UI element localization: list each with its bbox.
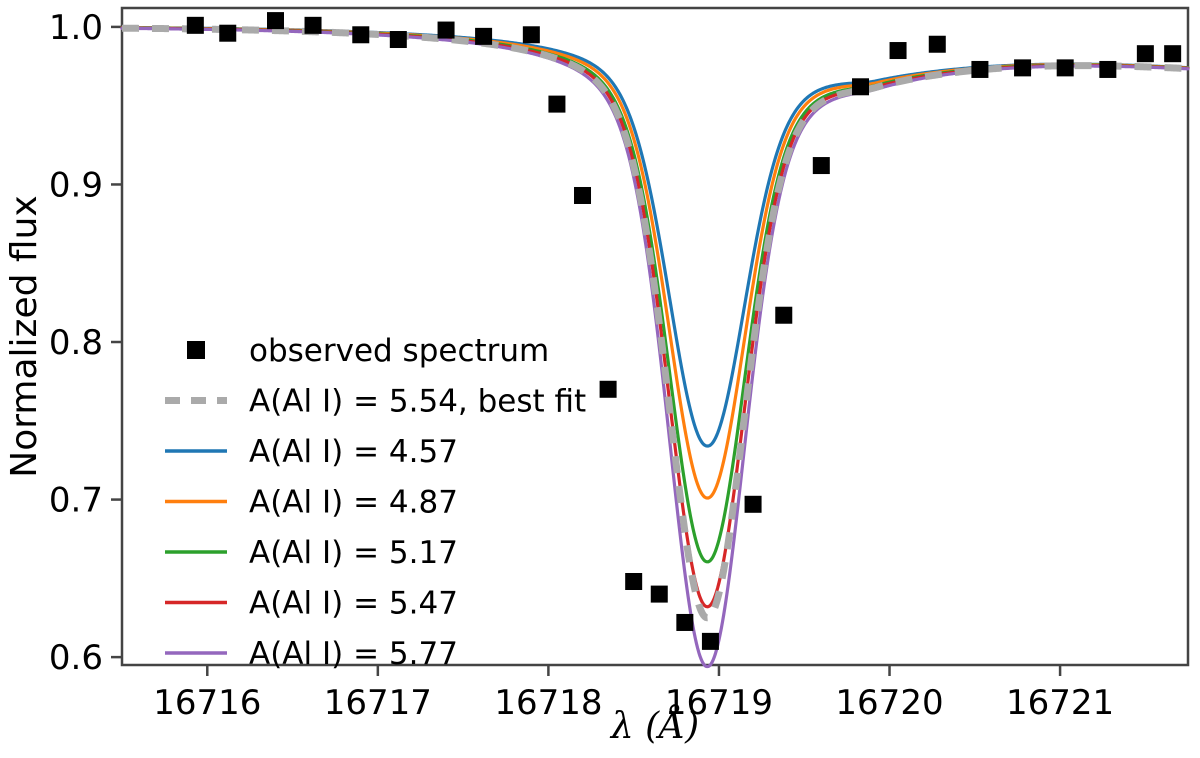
- legend-label-model_577: A(Al I) = 5.77: [249, 636, 458, 672]
- data-point: [702, 633, 719, 650]
- data-point: [971, 61, 988, 78]
- data-point: [1014, 59, 1031, 76]
- y-tick-label: 0.6: [49, 638, 103, 678]
- data-point: [1137, 45, 1154, 62]
- legend-label-observed: observed spectrum: [249, 333, 549, 369]
- y-tick-label: 0.9: [49, 165, 103, 205]
- data-point: [475, 28, 492, 45]
- data-point: [523, 26, 540, 43]
- data-point: [548, 96, 565, 113]
- data-point: [267, 12, 284, 29]
- x-tick-label: 16720: [835, 683, 943, 723]
- y-tick-label: 1.0: [49, 8, 103, 48]
- y-axis-label: Normalized flux: [4, 195, 45, 477]
- legend-label-best_fit: A(Al I) = 5.54, best fit: [249, 384, 586, 420]
- data-point: [600, 381, 617, 398]
- legend-label-model_457: A(Al I) = 4.57: [249, 434, 458, 470]
- legend-label-model_547: A(Al I) = 5.47: [249, 586, 458, 622]
- y-tick-label: 0.8: [49, 323, 103, 363]
- spectrum-plot-canvas: 1671616717167181671916720167210.60.70.80…: [0, 0, 1200, 758]
- data-point: [813, 157, 830, 174]
- x-tick-label: 16718: [494, 683, 602, 723]
- data-point: [1164, 45, 1181, 62]
- data-point: [219, 25, 236, 42]
- data-point: [676, 614, 693, 631]
- data-point: [305, 17, 322, 34]
- spectrum-figure: 1671616717167181671916720167210.60.70.80…: [0, 0, 1200, 758]
- x-tick-label: 16717: [324, 683, 432, 723]
- legend-label-model_517: A(Al I) = 5.17: [249, 535, 458, 571]
- legend-label-model_487: A(Al I) = 4.87: [249, 485, 458, 521]
- data-point: [1099, 61, 1116, 78]
- data-point: [1057, 59, 1074, 76]
- data-point: [890, 42, 907, 59]
- data-point: [352, 26, 369, 43]
- data-point: [390, 31, 407, 48]
- legend-marker-observed: [187, 341, 205, 359]
- data-point: [574, 187, 591, 204]
- data-point: [775, 307, 792, 324]
- data-point: [745, 496, 762, 513]
- data-point: [438, 22, 455, 39]
- data-point: [187, 17, 204, 34]
- x-axis-label: λ (Å): [609, 705, 699, 747]
- y-tick-label: 0.7: [49, 481, 103, 521]
- data-point: [929, 36, 946, 53]
- data-point: [651, 586, 668, 603]
- data-point: [852, 78, 869, 95]
- x-tick-label: 16716: [153, 683, 261, 723]
- data-point: [625, 573, 642, 590]
- x-tick-label: 16721: [1006, 683, 1114, 723]
